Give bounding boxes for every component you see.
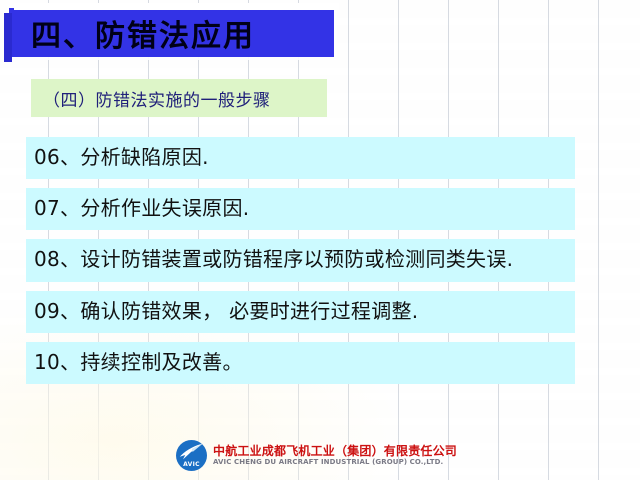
section-subtitle: （四）防错法实施的一般步骤 (31, 86, 271, 111)
avic-aircraft-logo-icon: AVIC (176, 440, 207, 471)
logo-abbr-text: AVIC (176, 461, 207, 468)
company-name-en: AVIC CHENG DU AIRCRAFT INDUSTRIAL (GROUP… (213, 459, 457, 466)
slide-canvas: 四、防错法应用 （四）防错法实施的一般步骤 06、分析缺陷原因. 07、分析作业… (0, 0, 640, 480)
page-title: 四、防错法应用 (31, 11, 255, 55)
list-item: 08、设计防错装置或防错程序以预防或检测同类失误. (26, 239, 575, 282)
list-item: 09、确认防错效果， 必要时进行过程调整. (26, 291, 575, 333)
slide-title-banner: 四、防错法应用 (9, 8, 334, 57)
list-item: 06、分析缺陷原因. (26, 137, 575, 179)
step-list: 06、分析缺陷原因. 07、分析作业失误原因. 08、设计防错装置或防错程序以预… (26, 137, 575, 393)
company-name-cn: 中航工业成都飞机工业（集团）有限责任公司 (213, 445, 457, 458)
footer-logo-block: AVIC 中航工业成都飞机工业（集团）有限责任公司 AVIC CHENG DU … (176, 440, 457, 471)
section-subtitle-chip: （四）防错法实施的一般步骤 (31, 79, 327, 117)
company-name-block: 中航工业成都飞机工业（集团）有限责任公司 AVIC CHENG DU AIRCR… (213, 445, 457, 467)
aircraft-swoosh-icon (179, 443, 204, 460)
list-item: 10、持续控制及改善。 (26, 342, 575, 384)
list-item: 07、分析作业失误原因. (26, 188, 575, 230)
